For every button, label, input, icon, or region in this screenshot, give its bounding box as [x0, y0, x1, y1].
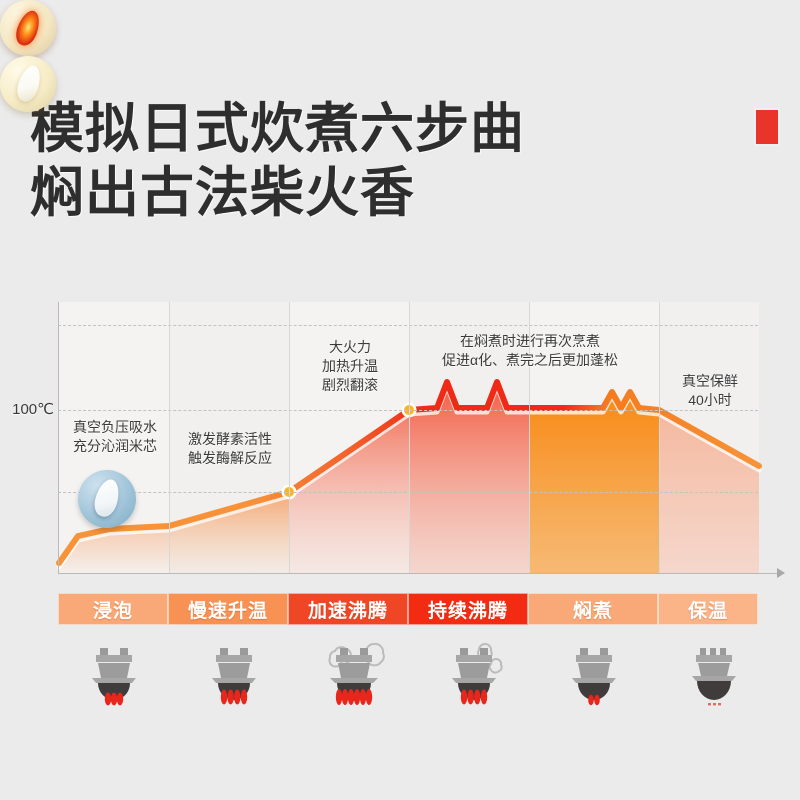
- stage-label-4[interactable]: 焖煮: [528, 593, 658, 625]
- rice-grain-cooking-icon: [0, 0, 56, 56]
- annotation-sustain-boil: 在焖煮时进行再次烹煮 促进α化、煮完之后更加蓬松: [400, 332, 660, 370]
- page-title: 模拟日式炊煮六步曲 焖出古法柴火香: [30, 98, 525, 225]
- annotation-slow-heat: 激发酵素活性 触发酶解反应: [170, 430, 290, 468]
- stage-label-0-text: 浸泡: [93, 596, 133, 623]
- page-root: 模拟日式炊煮六步曲 焖出古法柴火香: [0, 0, 800, 800]
- accent-square-decoration: [754, 108, 780, 146]
- x-axis-arrow-icon: [777, 568, 785, 578]
- annotation-keep-warm-line-2: 40小时: [660, 391, 760, 410]
- cooker-icon-slow-heat: [194, 642, 274, 722]
- gridline-top: [58, 325, 758, 326]
- stage-label-1-text: 慢速升温: [188, 596, 268, 623]
- annotation-soak-line-1: 真空负压吸水: [60, 418, 170, 437]
- annotation-fast-boil-line-3: 剧烈翻滚: [290, 376, 410, 395]
- annotation-sustain-boil-line-2: 促进α化、煮完之后更加蓬松: [400, 351, 660, 370]
- annotation-sustain-boil-line-1: 在焖煮时进行再次烹煮: [400, 332, 660, 351]
- annotation-slow-heat-line-2: 触发酶解反应: [170, 449, 290, 468]
- cooker-icon-keep-warm: [674, 642, 754, 722]
- stage-label-4-text: 焖煮: [573, 596, 613, 623]
- annotation-keep-warm: 真空保鲜 40小时: [660, 372, 760, 410]
- stage-label-0[interactable]: 浸泡: [58, 593, 168, 625]
- x-axis: [58, 573, 780, 574]
- stage-label-3-text: 持续沸腾: [428, 596, 508, 623]
- cooker-icon-stew: [554, 642, 634, 722]
- stage-label-5[interactable]: 保温: [658, 593, 758, 625]
- cooker-icon-fast-boil: [314, 642, 394, 722]
- stage-label-2[interactable]: 加速沸腾: [288, 593, 408, 625]
- cooker-icon-sustain-boil: [434, 642, 514, 722]
- stage-label-1[interactable]: 慢速升温: [168, 593, 288, 625]
- stage-label-2-text: 加速沸腾: [308, 596, 388, 623]
- annotation-keep-warm-line-1: 真空保鲜: [660, 372, 760, 391]
- gridline-100c: [58, 410, 758, 411]
- annotation-slow-heat-line-1: 激发酵素活性: [170, 430, 290, 449]
- y-axis-tick-label: 100℃: [12, 400, 54, 418]
- temperature-chart: 100℃ 真空负压吸水 充分沁润米芯 激发酵素活性 触发酶解反应 大火力 加热升…: [0, 290, 800, 590]
- cooker-icon-soak: [74, 642, 154, 722]
- annotation-fast-boil: 大火力 加热升温 剧烈翻滚: [290, 338, 410, 395]
- stage-label-band: 浸泡 慢速升温 加速沸腾 持续沸腾 焖煮 保温: [58, 593, 780, 625]
- annotation-soak: 真空负压吸水 充分沁润米芯: [60, 418, 170, 456]
- annotation-fast-boil-line-1: 大火力: [290, 338, 410, 357]
- headline-line-2: 焖出古法柴火香: [30, 162, 525, 226]
- y-axis: [58, 302, 59, 574]
- cooker-icon-row: [58, 636, 780, 726]
- stage-label-5-text: 保温: [688, 596, 728, 623]
- stage-label-3[interactable]: 持续沸腾: [408, 593, 528, 625]
- annotation-soak-line-2: 充分沁润米芯: [60, 437, 170, 456]
- gridline-mid: [58, 492, 758, 493]
- y-axis-tick: 100℃: [0, 410, 54, 430]
- rice-grain-soaking-icon: [78, 470, 136, 528]
- headline-line-1: 模拟日式炊煮六步曲: [30, 99, 525, 159]
- annotation-fast-boil-line-2: 加热升温: [290, 357, 410, 376]
- rice-grain-cooked-icon: [0, 56, 56, 112]
